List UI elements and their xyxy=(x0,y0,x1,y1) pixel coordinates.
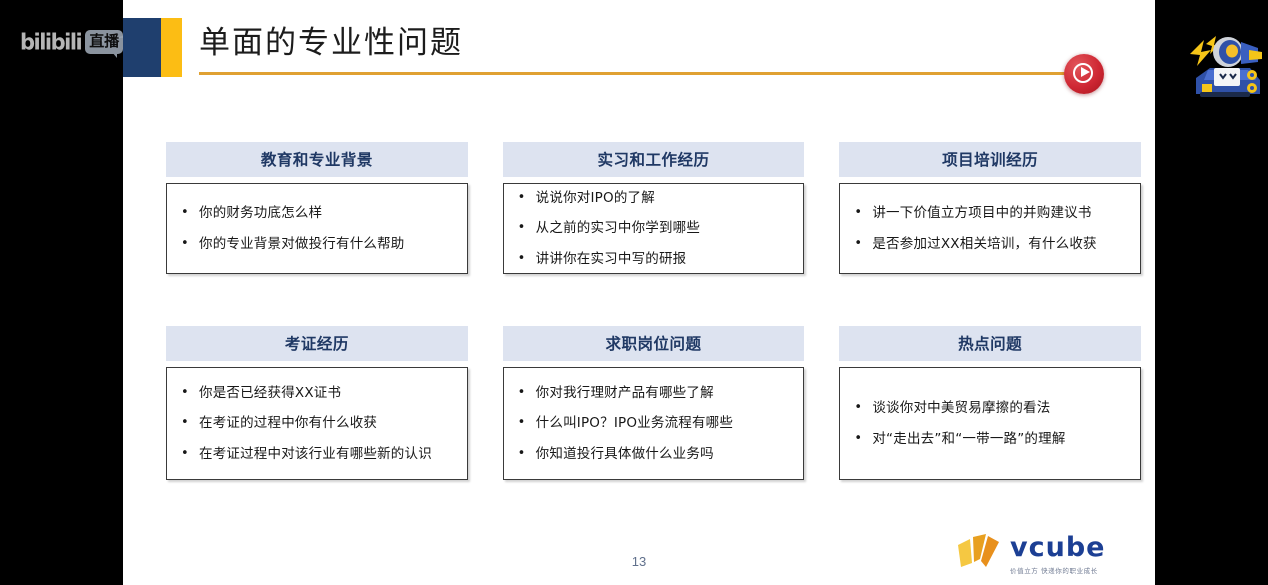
list-item: • 你的财务功底怎么样 xyxy=(181,203,457,223)
bullet-icon: • xyxy=(854,398,872,418)
list-item: • 是否参加过XX相关培训，有什么收获 xyxy=(854,234,1130,254)
card-header: 实习和工作经历 xyxy=(503,142,805,177)
card-header: 热点问题 xyxy=(839,326,1141,361)
title-underline xyxy=(199,72,1094,75)
card-job-position: 求职岗位问题 • 你对我行理财产品有哪些了解 • 什么叫IPO？IPO业务流程有… xyxy=(503,326,805,480)
list-item: • 你知道投行具体做什么业务吗 xyxy=(518,444,794,464)
presentation-slide: 单面的专业性问题 教育和专业背景 • 你的财务功底怎么样 • xyxy=(123,0,1155,585)
card-hot-topics: 热点问题 • 谈谈你对中美贸易摩擦的看法 • 对“走出去”和“一带一路”的理解 xyxy=(839,326,1141,480)
bullet-icon: • xyxy=(518,383,536,403)
page-title: 单面的专业性问题 xyxy=(199,17,463,62)
list-item-text: 谈谈你对中美贸易摩擦的看法 xyxy=(872,398,1130,418)
brand-name: vcube xyxy=(1010,534,1105,561)
list-item: • 从之前的实习中你学到哪些 xyxy=(518,218,794,238)
bullet-icon: • xyxy=(181,383,199,403)
card-education: 教育和专业背景 • 你的财务功底怎么样 • 你的专业背景对做投行有什么帮助 xyxy=(166,142,468,274)
bullet-icon: • xyxy=(854,234,872,254)
card-body: • 你的财务功底怎么样 • 你的专业背景对做投行有什么帮助 xyxy=(166,183,468,274)
list-item: • 讲一下价值立方项目中的并购建议书 xyxy=(854,203,1130,223)
card-body: • 你是否已经获得XX证书 • 在考证的过程中你有什么收获 • 在考证过程中对该… xyxy=(166,367,468,480)
bullet-icon: • xyxy=(518,444,536,464)
card-body: • 讲一下价值立方项目中的并购建议书 • 是否参加过XX相关培训，有什么收获 xyxy=(839,183,1141,274)
list-item: • 说说你对IPO的了解 xyxy=(518,188,794,208)
card-internship: 实习和工作经历 • 说说你对IPO的了解 • 从之前的实习中你学到哪些 • 讲讲 xyxy=(503,142,805,274)
list-item-text: 是否参加过XX相关培训，有什么收获 xyxy=(872,234,1130,254)
list-item: • 你的专业背景对做投行有什么帮助 xyxy=(181,234,457,254)
card-grid: 教育和专业背景 • 你的财务功底怎么样 • 你的专业背景对做投行有什么帮助 实习… xyxy=(166,142,1141,480)
card-body: • 谈谈你对中美贸易摩擦的看法 • 对“走出去”和“一带一路”的理解 xyxy=(839,367,1141,480)
bilibili-live-watermark: bilibili 直播 xyxy=(20,22,132,62)
play-badge-icon xyxy=(1064,54,1104,94)
brand-logo: vcube 价值立方 快递你的职业成长 xyxy=(956,528,1146,580)
bullet-icon: • xyxy=(854,203,872,223)
list-item-text: 讲讲你在实习中写的研报 xyxy=(536,249,794,269)
decoration-block-yellow xyxy=(161,18,182,77)
card-body: • 说说你对IPO的了解 • 从之前的实习中你学到哪些 • 讲讲你在实习中写的研… xyxy=(503,183,805,274)
card-row-top: 教育和专业背景 • 你的财务功底怎么样 • 你的专业背景对做投行有什么帮助 实习… xyxy=(166,142,1141,274)
bullet-icon: • xyxy=(181,444,199,464)
card-row-bottom: 考证经历 • 你是否已经获得XX证书 • 在考证的过程中你有什么收获 • 在考证 xyxy=(166,326,1141,480)
list-item-text: 说说你对IPO的了解 xyxy=(536,188,794,208)
list-item-text: 在考证过程中对该行业有哪些新的认识 xyxy=(199,444,457,464)
decoration-block-blue xyxy=(123,18,161,77)
card-header: 项目培训经历 xyxy=(839,142,1141,177)
list-item: • 在考证的过程中你有什么收获 xyxy=(181,413,457,433)
list-item: • 你对我行理财产品有哪些了解 xyxy=(518,383,794,403)
live-badge: 直播 xyxy=(85,30,123,54)
list-item-text: 你的财务功底怎么样 xyxy=(199,203,457,223)
play-triangle xyxy=(1081,67,1090,77)
bilibili-wordmark: bilibili xyxy=(20,29,81,54)
list-item-text: 你对我行理财产品有哪些了解 xyxy=(536,383,794,403)
bullet-icon: • xyxy=(181,413,199,433)
video-stage: bilibili 直播 单面的专业性问题 xyxy=(0,0,1268,585)
list-item-text: 在考证的过程中你有什么收获 xyxy=(199,413,457,433)
bullet-icon: • xyxy=(518,188,536,208)
bullet-icon: • xyxy=(854,429,872,449)
vcube-mark-icon xyxy=(956,533,1002,575)
robot-mascot-icon xyxy=(1186,28,1266,100)
list-item: • 在考证过程中对该行业有哪些新的认识 xyxy=(181,444,457,464)
list-item-text: 对“走出去”和“一带一路”的理解 xyxy=(872,429,1130,449)
bullet-icon: • xyxy=(518,249,536,269)
bullet-icon: • xyxy=(518,218,536,238)
list-item-text: 讲一下价值立方项目中的并购建议书 xyxy=(872,203,1130,223)
list-item: • 谈谈你对中美贸易摩擦的看法 xyxy=(854,398,1130,418)
card-certification: 考证经历 • 你是否已经获得XX证书 • 在考证的过程中你有什么收获 • 在考证 xyxy=(166,326,468,480)
brand-tagline: 价值立方 快递你的职业成长 xyxy=(1010,565,1105,575)
list-item: • 你是否已经获得XX证书 xyxy=(181,383,457,403)
list-item: • 对“走出去”和“一带一路”的理解 xyxy=(854,429,1130,449)
list-item: • 讲讲你在实习中写的研报 xyxy=(518,249,794,269)
list-item-text: 你知道投行具体做什么业务吗 xyxy=(536,444,794,464)
bullet-icon: • xyxy=(181,203,199,223)
list-item-text: 你的专业背景对做投行有什么帮助 xyxy=(199,234,457,254)
bullet-icon: • xyxy=(181,234,199,254)
list-item-text: 你是否已经获得XX证书 xyxy=(199,383,457,403)
card-header: 教育和专业背景 xyxy=(166,142,468,177)
card-project-training: 项目培训经历 • 讲一下价值立方项目中的并购建议书 • 是否参加过XX相关培训，… xyxy=(839,142,1141,274)
list-item: • 什么叫IPO？IPO业务流程有哪些 xyxy=(518,413,794,433)
list-item-text: 从之前的实习中你学到哪些 xyxy=(536,218,794,238)
card-body: • 你对我行理财产品有哪些了解 • 什么叫IPO？IPO业务流程有哪些 • 你知… xyxy=(503,367,805,480)
card-header: 考证经历 xyxy=(166,326,468,361)
card-header: 求职岗位问题 xyxy=(503,326,805,361)
list-item-text: 什么叫IPO？IPO业务流程有哪些 xyxy=(536,413,794,433)
bullet-icon: • xyxy=(518,413,536,433)
brand-text: vcube 价值立方 快递你的职业成长 xyxy=(1010,534,1105,575)
